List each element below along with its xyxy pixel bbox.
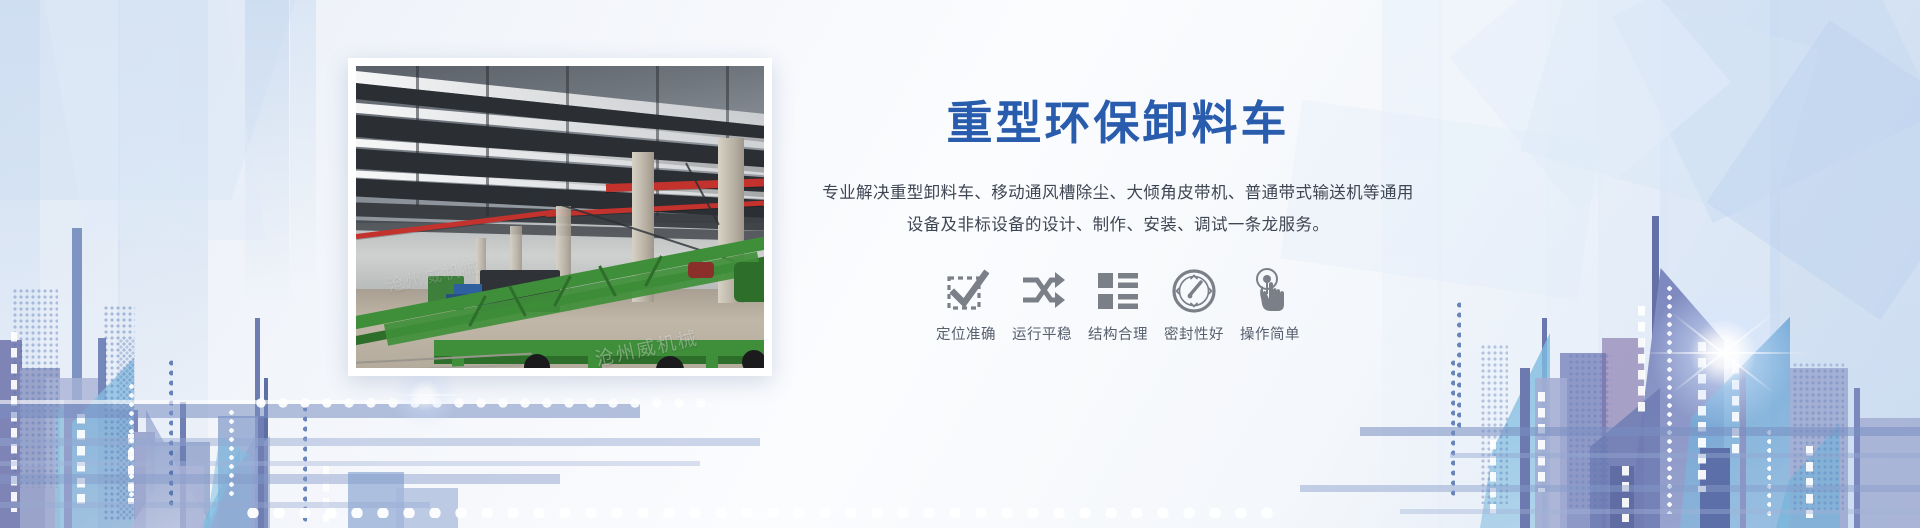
feature-item-smooth-operation[interactable]: 运行平稳 [1004,268,1080,344]
dotted-vertical-line [128,382,134,502]
facade-dot-grid [12,288,58,488]
window-column [1538,392,1545,492]
dotted-vertical-line [302,404,307,524]
dotted-vertical-line [1666,284,1672,514]
seal-gauge-circle-icon [1171,268,1217,314]
feature-list: 定位准确 运行平稳 [818,268,1418,344]
building [150,442,210,528]
bg-polygon [34,0,267,240]
bg-band [1546,0,1602,528]
photo-motor [688,262,714,278]
feature-item-sealing[interactable]: 密封性好 [1156,268,1232,344]
bg-band [290,0,316,280]
building [180,402,186,528]
hero-banner: 沧州威机械 沧州威机械 重型环保卸料车 专业解决重型卸料车、移动通风槽除尘、大倾… [0,0,1920,528]
window-column [1622,466,1629,522]
dotted-vertical-line [168,358,173,508]
photo-wheel [742,350,764,368]
building [64,400,112,528]
dotted-vertical-line [1450,358,1455,498]
city-skyline-right [1450,198,1920,528]
window-column [1490,440,1496,520]
bg-band [1770,0,1920,528]
building [1854,388,1860,528]
building-angled [200,432,240,528]
window-column [128,434,134,504]
bg-polygon [1706,20,1920,320]
bg-polygon [1612,0,1920,223]
flare-spike [1640,352,1810,354]
bg-hline [1300,485,1920,492]
dotted-row [250,398,710,408]
bg-hline [0,502,430,508]
city-skyline-center [200,408,460,528]
list-blocks-icon [1095,268,1141,314]
bg-hline [0,438,760,446]
building [1652,216,1659,528]
building [72,228,82,528]
bg-band [1598,0,1668,528]
bg-hline [1360,427,1920,436]
building-angled [205,418,265,528]
window-column [1638,306,1645,416]
checkbox-dashed-check-icon [943,268,989,314]
window-column [11,332,17,512]
window-column [1806,446,1813,518]
building-angled [206,436,252,528]
building [264,378,268,528]
building [1542,318,1547,528]
dotted-row [240,508,1280,518]
building [1560,353,1606,528]
flare-spike [1671,312,1775,394]
facade-dot-grid [1568,353,1612,508]
bg-hline [0,404,640,418]
building [20,368,60,528]
building-angled [1480,333,1550,528]
flare-spike [1671,312,1775,394]
bg-band [178,0,208,528]
feature-item-easy-operation[interactable]: 操作简单 [1232,268,1308,344]
feature-label: 密封性好 [1164,323,1224,344]
building [1700,448,1730,528]
window-column [77,414,85,510]
facade-dot-grid [1480,344,1508,504]
building-angled [72,358,134,528]
product-photo-frame: 沧州威机械 沧州威机械 [348,58,772,376]
feature-label: 操作简单 [1240,323,1300,344]
photo-leg [706,352,718,368]
bg-polygon [1520,0,1820,222]
dotted-vertical-line [228,408,234,498]
building [1535,378,1567,528]
feature-item-structure[interactable]: 结构合理 [1080,268,1156,344]
building [133,432,155,528]
flare-spike [392,394,472,396]
building-angled [1680,288,1790,528]
window-column [323,466,329,522]
building [1740,368,1746,528]
shuffle-arrows-icon [1019,268,1065,314]
bg-band [0,0,120,528]
light-flare [1648,278,1798,428]
building [1520,368,1530,528]
building-angled [146,410,212,528]
facade-dot-grid [103,305,135,520]
page-title: 重型环保卸料车 [818,96,1418,151]
photo-purlin [416,66,419,206]
bg-band [118,0,178,528]
building [45,378,105,528]
facade-dot-grid [118,338,136,518]
building [1860,418,1920,528]
building [1602,338,1644,528]
building [0,340,22,528]
building-angled [1590,388,1660,528]
product-photo: 沧州威机械 沧州威机械 [356,66,764,368]
photo-purlin [486,66,489,216]
bg-polygon [0,0,309,200]
building [348,472,404,528]
feature-label: 定位准确 [936,323,996,344]
bg-band [1438,0,1548,528]
building [255,318,260,528]
touch-hand-icon [1247,268,1293,314]
bg-hline [0,400,430,404]
photo-drum [734,262,764,302]
dotted-vertical-line [1766,428,1771,518]
building [396,488,458,528]
building [218,416,264,528]
feature-label: 结构合理 [1088,323,1148,344]
dotted-vertical-line [1456,300,1461,428]
building-angled [1628,268,1724,528]
banner-content: 重型环保卸料车 专业解决重型卸料车、移动通风槽除尘、大倾角皮带机、普通带式输送机… [818,96,1418,344]
feature-item-positioning[interactable]: 定位准确 [928,268,1004,344]
building [98,338,106,528]
building [55,408,85,528]
building-angled [130,420,186,528]
bg-band [1660,0,1780,528]
window-column [1732,364,1739,460]
building [100,410,138,528]
bg-polygon [1449,0,1731,211]
bg-hline [1400,509,1920,514]
feature-label: 运行平稳 [1012,323,1072,344]
building-angled [1776,403,1840,528]
facade-dot-grid [1792,362,1844,512]
bg-band [245,0,289,300]
building [180,466,204,528]
building-angled [210,436,270,528]
building [258,416,264,528]
bg-band [0,0,40,528]
bg-hline [0,474,560,484]
banner-description: 专业解决重型卸料车、移动通风槽除尘、大倾角皮带机、普通带式输送机等通用设备及非标… [818,177,1418,241]
window-column [1698,342,1706,492]
building [1610,466,1634,528]
photo-purlin [566,66,569,222]
bg-hline [1450,453,1920,458]
building [1790,368,1848,528]
bg-hline [0,461,700,466]
photo-purlin [656,66,659,216]
